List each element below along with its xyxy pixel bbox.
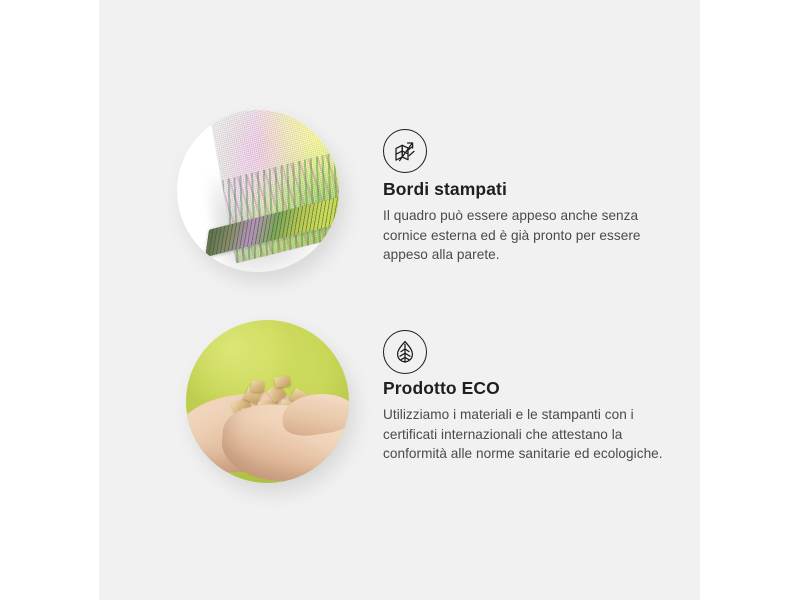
leaf-glyph: [391, 338, 419, 366]
printed-edges-icon: [383, 129, 427, 173]
feature-text-printed-edges: Bordi stampati Il quadro può essere appe…: [383, 178, 673, 265]
canvas-corner-photo: [177, 110, 339, 272]
feature-text-eco-product: Prodotto ECO Utilizziamo i materiali e l…: [383, 377, 673, 464]
feature-title: Prodotto ECO: [383, 377, 673, 399]
hands-wood-chips-photo: [186, 320, 349, 483]
feature-description: Il quadro può essere appeso anche senza …: [383, 206, 673, 265]
product-feature-panel: Bordi stampati Il quadro può essere appe…: [0, 0, 800, 600]
content-panel: [99, 0, 700, 600]
feature-title: Bordi stampati: [383, 178, 673, 200]
leaf-eco-icon: [383, 330, 427, 374]
feature-description: Utilizziamo i materiali e le stampanti c…: [383, 405, 673, 464]
canvas-photo-inner: [177, 110, 339, 272]
printed-edges-glyph: [391, 137, 419, 165]
